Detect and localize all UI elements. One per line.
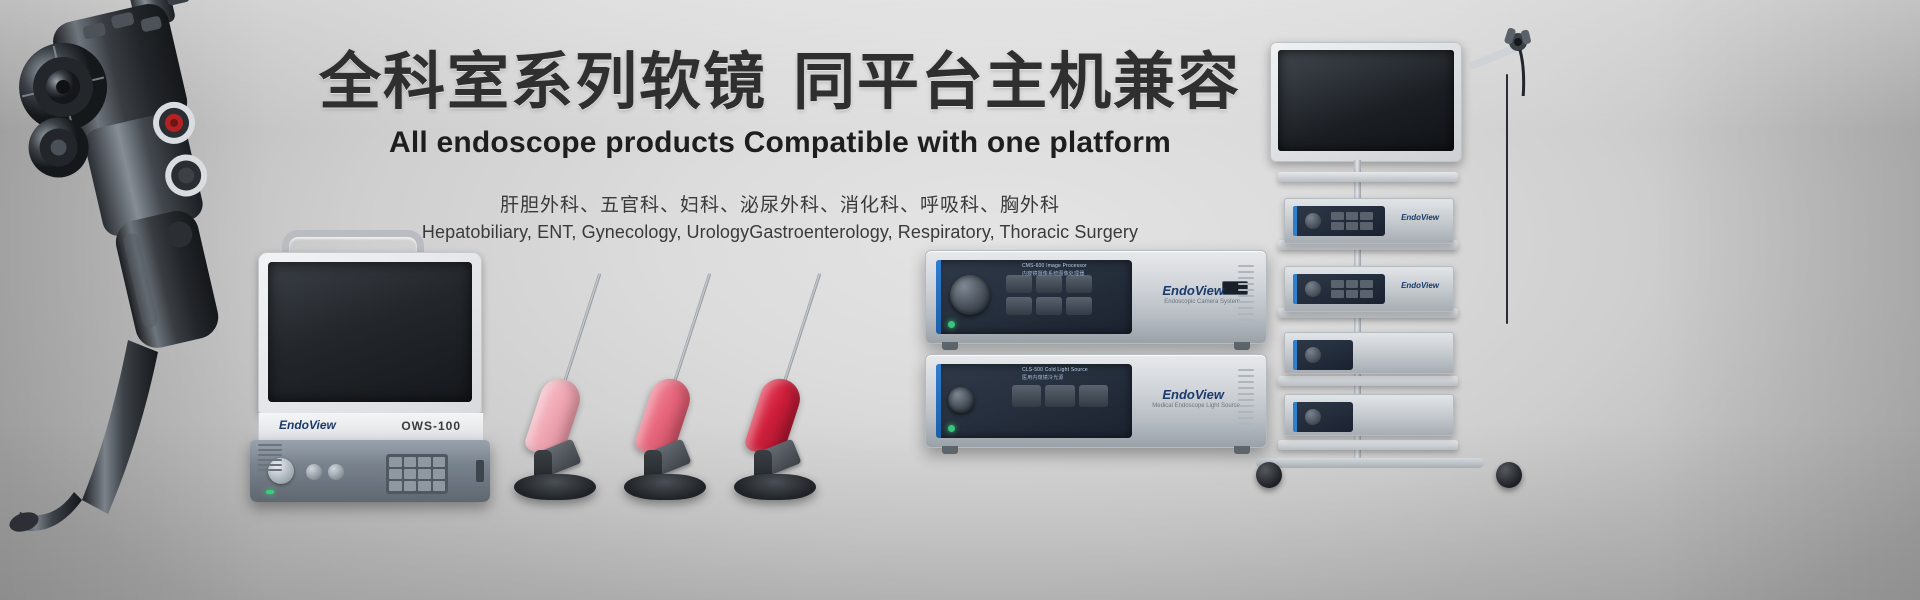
brand-accent-strip <box>936 364 941 438</box>
console-foot <box>1234 446 1250 454</box>
brand-accent-strip <box>1293 274 1297 304</box>
scope-display-stand <box>514 474 596 500</box>
side-panel-accent <box>476 460 484 482</box>
brand-accent-strip <box>936 260 941 334</box>
button-array-icon <box>1006 275 1092 315</box>
cart-accessory-unit <box>1284 394 1454 436</box>
console-brand-sublabel: Medical Endoscope Light Source <box>1152 403 1240 409</box>
headline-part-1: 全科室系列软镜 <box>319 48 767 117</box>
ventilation-grille-icon <box>1238 369 1254 433</box>
rotary-knob-icon <box>1305 409 1321 425</box>
console-foot <box>1234 342 1250 350</box>
console-foot <box>942 446 958 454</box>
flexible-endoscope-pink <box>500 270 610 500</box>
cart-shelf <box>1278 376 1458 386</box>
page-title: 全科室系列软镜同平台主机兼容 <box>0 52 1560 114</box>
scope-display-stand <box>624 474 706 500</box>
monitor-model-label: OWS-100 <box>401 419 461 433</box>
subtitle-en: All endoscope products Compatible with o… <box>0 126 1560 160</box>
console-label-line2: 医用内窥镜冷光源 <box>1022 374 1064 381</box>
departments-cn: 肝胆外科、五官科、妇科、泌尿外科、消化科、呼吸科、胸外科 <box>0 190 1560 217</box>
rotary-knob-icon <box>1305 347 1321 363</box>
flexible-endoscope-coral <box>610 270 720 500</box>
console-brand-label: EndoView <box>1162 387 1224 402</box>
banner-text-block: 全科室系列软镜同平台主机兼容 All endoscope products Co… <box>0 52 1560 243</box>
rotary-knob-icon <box>1305 281 1321 297</box>
cart-mounted-console: EndoView <box>1284 266 1454 312</box>
power-led-icon <box>948 321 955 328</box>
console-brand-label: EndoView <box>1401 281 1439 290</box>
camera-control-unit: CMS-600 Image Processor 内窥镜摄像系统图像处理器 End… <box>925 250 1267 344</box>
caster-wheel-icon <box>1496 462 1522 488</box>
keypad-icon <box>386 454 448 494</box>
button-array-icon <box>1331 280 1373 298</box>
headline-part-2: 同平台主机兼容 <box>793 48 1241 117</box>
console-brand-label: EndoView <box>1162 283 1224 298</box>
rotary-knob-icon <box>948 387 974 413</box>
console-label-line2: 内窥镜摄像系统图像处理器 <box>1022 270 1084 277</box>
cart-base-frame <box>1256 458 1484 468</box>
scope-display-stand <box>734 474 816 500</box>
console-stack: CMS-600 Image Processor 内窥镜摄像系统图像处理器 End… <box>925 250 1275 470</box>
cart-shelf <box>1278 440 1458 450</box>
cold-light-source-unit: CLS-500 Cold Light Source 医用内窥镜冷光源 EndoV… <box>925 354 1267 448</box>
console-brand-sublabel: Endoscopic Camera System <box>1164 299 1240 305</box>
brand-accent-strip <box>1293 402 1297 432</box>
console-front-panel <box>1293 340 1353 370</box>
cart-accessory-unit <box>1284 332 1454 374</box>
console-front-panel <box>1293 402 1353 432</box>
rotary-knob-icon <box>950 275 990 315</box>
console-label-line1: CMS-600 Image Processor <box>1022 263 1087 269</box>
endoscope-product-banner: 全科室系列软镜同平台主机兼容 All endoscope products Co… <box>0 0 1920 600</box>
departments-en: Hepatobiliary, ENT, Gynecology, UrologyG… <box>0 222 1560 243</box>
ventilation-grille-icon <box>1238 265 1254 329</box>
connector-port-icon <box>328 464 344 480</box>
button-array-icon <box>1012 385 1108 407</box>
power-led-icon <box>948 425 955 432</box>
flexible-endoscope-group <box>500 250 880 500</box>
console-foot <box>942 342 958 350</box>
brand-accent-strip <box>1293 340 1297 370</box>
flexible-endoscope-red <box>720 270 830 500</box>
console-label-line1: CLS-500 Cold Light Source <box>1022 367 1088 373</box>
